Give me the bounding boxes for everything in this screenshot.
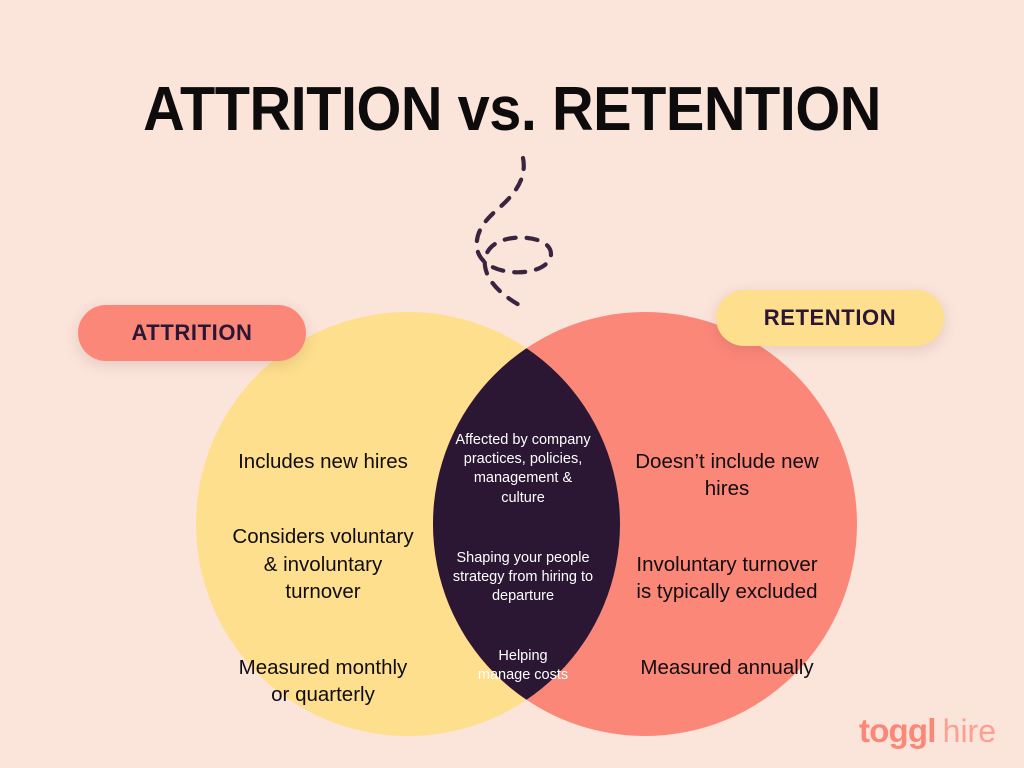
overlap-points: Affected by company practices, policies,… [442,412,604,727]
attrition-label-text: ATTRITION [131,320,252,346]
retention-point: Measured annually [618,654,836,682]
logo-toggl-text: toggl [859,712,936,750]
toggl-hire-logo: toggl hire [859,712,996,750]
logo-hire-text: hire [943,713,996,750]
retention-point: Involuntary turnover is typically exclud… [618,551,836,606]
overlap-point: Helping manage costs [442,647,604,685]
attrition-label-pill: ATTRITION [78,305,306,361]
page-title: ATTRITION vs. RETENTION [36,74,988,145]
retention-points: Doesn’t include new hires Involuntary tu… [618,420,836,709]
overlap-point: Shaping your people strategy from hiring… [442,549,604,606]
retention-label-text: RETENTION [764,305,897,331]
infographic-canvas: ATTRITION vs. RETENTION Includes new hir… [0,0,1024,768]
attrition-point: Considers voluntary & involuntary turnov… [212,523,434,606]
overlap-point: Affected by company practices, policies,… [442,431,604,508]
dashed-curly-arrow-icon [455,150,585,320]
retention-label-pill: RETENTION [716,290,944,346]
attrition-points: Includes new hires Considers voluntary &… [212,420,434,737]
attrition-point: Includes new hires [212,448,434,476]
retention-point: Doesn’t include new hires [618,448,836,503]
attrition-point: Measured monthly or quarterly [212,654,434,709]
